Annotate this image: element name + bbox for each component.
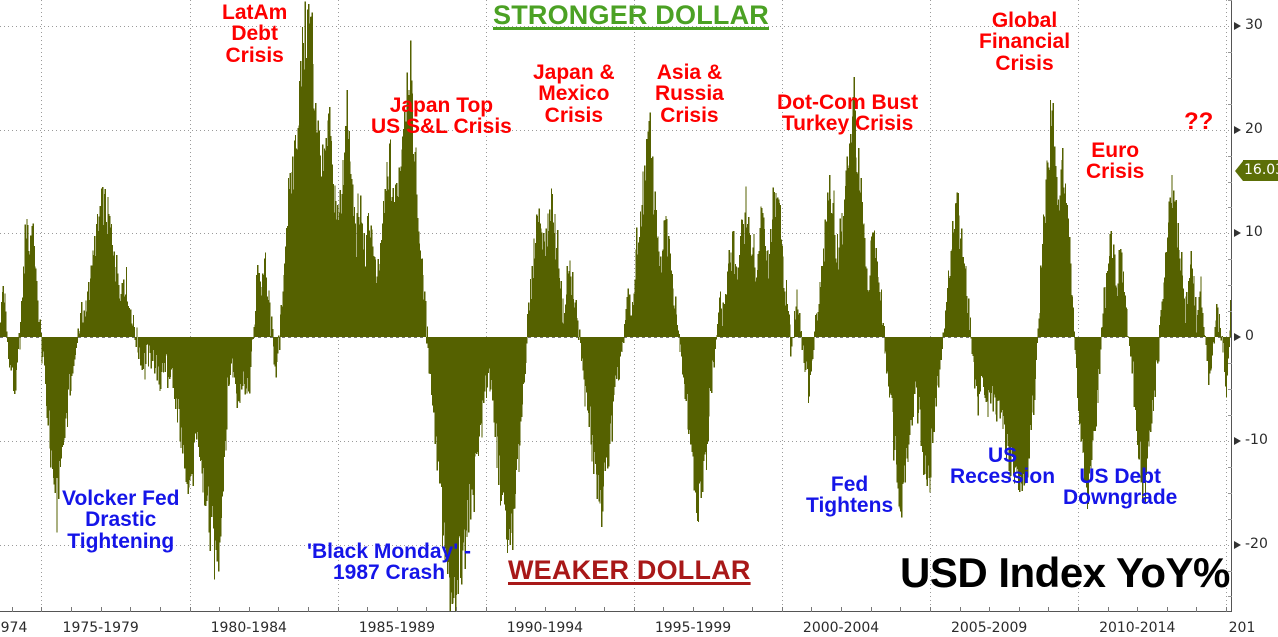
badge-arrow-icon — [1235, 161, 1243, 181]
x-tick-label: 1990-1994 — [485, 620, 605, 636]
annotation-black-monday-1987-crash: 'Black Monday' - 1987 Crash — [307, 541, 471, 584]
y-tick-label: 30 — [1245, 17, 1263, 33]
y-tick-label: -20 — [1245, 536, 1268, 552]
stronger-dollar-label: STRONGER DOLLAR — [493, 2, 769, 30]
annotation-dot-com-bust-turkey-crisis: Dot-Com Bust Turkey Crisis — [777, 92, 918, 135]
annotation-us-recession: US Recession — [950, 445, 1055, 488]
x-tick-label: 2000-2004 — [781, 620, 901, 636]
annotation-asia-russia-crisis: Asia & Russia Crisis — [655, 62, 724, 126]
x-tick-label: 1975-1979 — [41, 620, 161, 636]
chart-root: 3020100-10-20 9741975-19791980-19841985-… — [0, 0, 1278, 637]
annotation-global-financial-crisis: Global Financial Crisis — [979, 10, 1070, 74]
y-tick-arrow-icon — [1234, 333, 1241, 341]
annotation-volcker-fed-drastic-tightening: Volcker Fed Drastic Tightening — [62, 488, 180, 552]
y-tick-arrow-icon — [1234, 126, 1241, 134]
last-value-badge: 16.0323 — [1235, 160, 1278, 181]
weaker-dollar-label: WEAKER DOLLAR — [508, 557, 751, 585]
annotation-euro-crisis: Euro Crisis — [1086, 140, 1144, 183]
y-tick-arrow-icon — [1234, 229, 1241, 237]
chart-title: USD Index YoY% — [900, 549, 1230, 597]
y-tick-label: 10 — [1245, 224, 1263, 240]
last-value-text: 16.0323 — [1243, 160, 1278, 181]
x-tick-label: 1985-1989 — [337, 620, 457, 636]
annotation-us-debt-downgrade: US Debt Downgrade — [1063, 466, 1177, 509]
annotation-fed-tightens: Fed Tightens — [806, 474, 893, 517]
x-tick-label: 201 — [1182, 620, 1278, 636]
y-tick-arrow-icon — [1234, 541, 1241, 549]
annotation-japan-mexico-crisis: Japan & Mexico Crisis — [533, 62, 615, 126]
y-tick-arrow-icon — [1234, 22, 1241, 30]
annotation-japan-top-us-snl-crisis: Japan Top US S&L Crisis — [371, 95, 512, 138]
chart-plot-area — [0, 0, 1232, 612]
x-tick-label: 2010-2014 — [1077, 620, 1197, 636]
y-tick-label: 0 — [1245, 328, 1254, 344]
x-tick-label: 2005-2009 — [929, 620, 1049, 636]
x-tick-label: 1980-1984 — [189, 620, 309, 636]
y-tick-arrow-icon — [1234, 437, 1241, 445]
x-tick-label: 1995-1999 — [633, 620, 753, 636]
question-mark-label: ?? — [1184, 108, 1213, 136]
annotation-latam-debt-crisis: LatAm Debt Crisis — [222, 2, 287, 66]
y-tick-label: 20 — [1245, 121, 1263, 137]
y-tick-label: -10 — [1245, 432, 1268, 448]
